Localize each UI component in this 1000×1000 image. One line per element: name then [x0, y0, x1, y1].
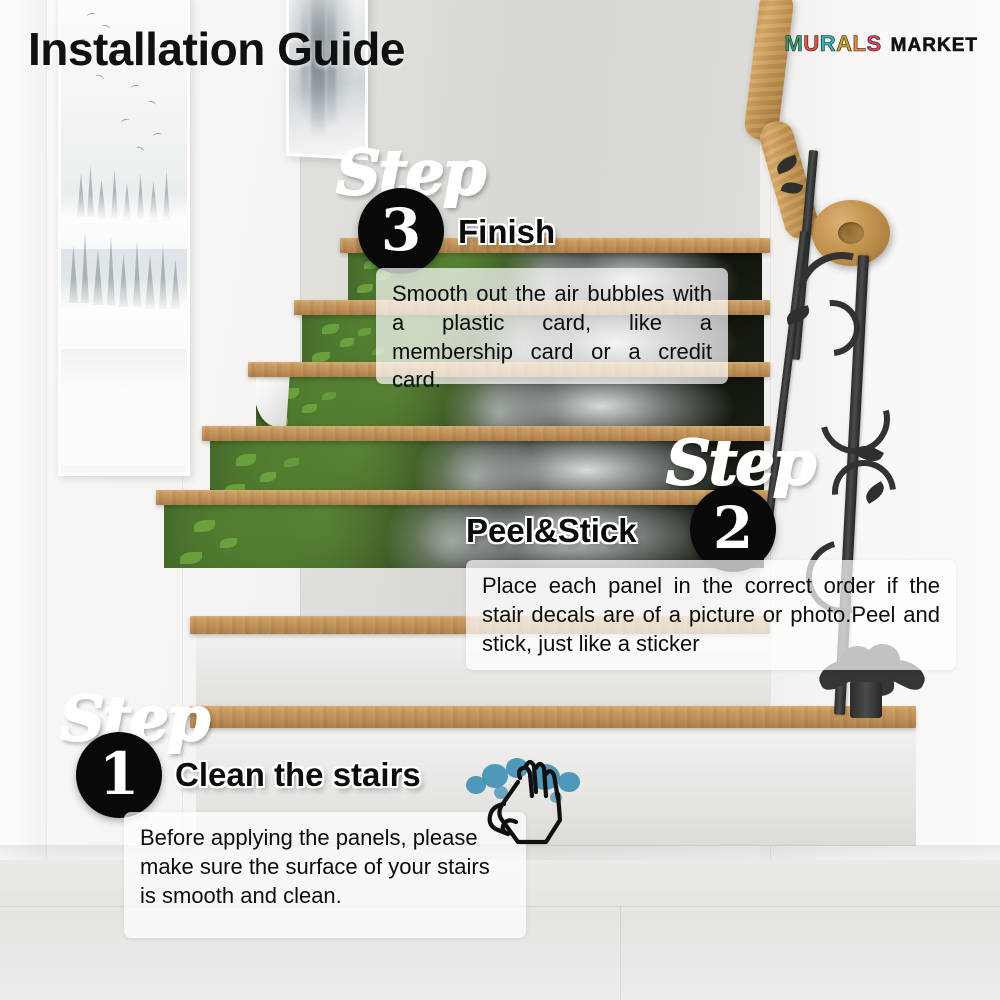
bottom-step-tread — [190, 706, 916, 728]
page-title: Installation Guide — [28, 22, 405, 76]
newel-post-base — [850, 682, 882, 718]
brand-logo-murals: MURALS — [785, 33, 882, 55]
stair-riser-mural — [164, 502, 764, 568]
step-2-word: Step — [666, 432, 814, 494]
brand-logo-market: MARKET — [891, 36, 978, 55]
step-2-label: Peel&Stick — [466, 512, 637, 550]
floor-grout-line — [620, 906, 621, 1000]
step-1-number: 1 — [99, 745, 139, 803]
installation-guide-graphic: Installation Guide MURALS MARKET Step 3 … — [0, 0, 1000, 1000]
step-2-number: 2 — [713, 499, 753, 557]
step-3-circle: 3 — [358, 188, 444, 274]
left-wall-return — [0, 0, 46, 960]
step-3-description: Smooth out the air bubbles with a plasti… — [376, 268, 728, 384]
step-3-number: 3 — [381, 201, 421, 259]
handrail-volute-eye — [838, 222, 864, 244]
wash-hands-icon — [464, 752, 588, 852]
step-3-label: Finish — [458, 213, 555, 251]
step-2-description: Place each panel in the correct order if… — [466, 560, 956, 670]
step-1-label: Clean the stairs — [175, 756, 421, 794]
brand-logo[interactable]: MURALS MARKET — [785, 33, 978, 55]
step-1-circle: 1 — [76, 732, 162, 818]
